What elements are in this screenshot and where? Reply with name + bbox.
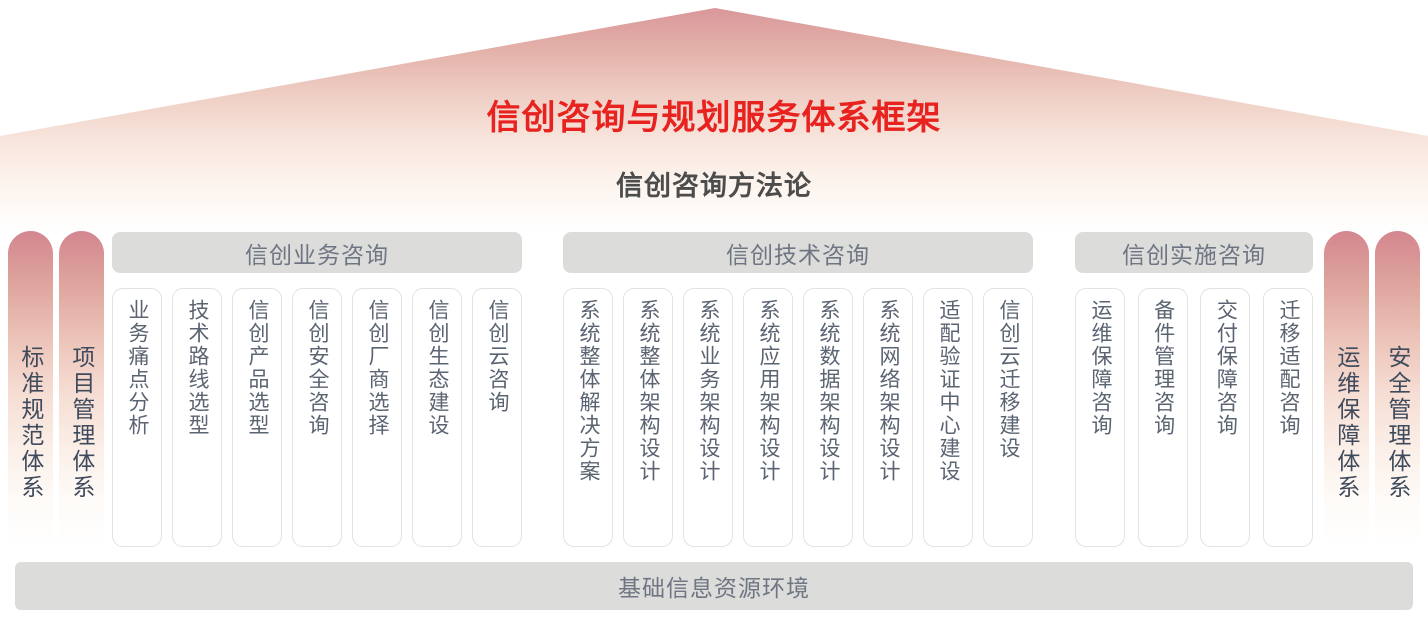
item-card[interactable]: 运维保障咨询 <box>1075 288 1125 547</box>
pillar-right-1-label: 运维保障体系 <box>1334 345 1359 501</box>
item-label: 系统整体架构设计 <box>637 299 659 483</box>
item-card[interactable]: 系统整体解决方案 <box>563 288 613 547</box>
item-card[interactable]: 系统整体架构设计 <box>623 288 673 547</box>
item-label: 运维保障咨询 <box>1089 299 1111 437</box>
item-card[interactable]: 业务痛点分析 <box>112 288 162 547</box>
group-body-implementation: 运维保障咨询 备件管理咨询 交付保障咨询 迁移适配咨询 <box>1075 288 1313 547</box>
item-label: 信创生态建设 <box>426 299 448 437</box>
item-label: 适配验证中心建设 <box>937 299 959 483</box>
item-label: 迁移适配咨询 <box>1277 299 1299 437</box>
pillar-left-1-label: 标准规范体系 <box>18 345 43 501</box>
group-header-technology[interactable]: 信创技术咨询 <box>563 232 1033 273</box>
item-card[interactable]: 信创厂商选择 <box>352 288 402 547</box>
item-card[interactable]: 信创生态建设 <box>412 288 462 547</box>
item-label: 信创云迁移建设 <box>997 299 1019 460</box>
group-body-business: 业务痛点分析 技术路线选型 信创产品选型 信创安全咨询 信创厂商选择 信创生态建… <box>112 288 522 547</box>
item-card[interactable]: 技术路线选型 <box>172 288 222 547</box>
item-card[interactable]: 迁移适配咨询 <box>1263 288 1313 547</box>
item-label: 系统网络架构设计 <box>877 299 899 483</box>
item-label: 信创安全咨询 <box>306 299 328 437</box>
foundation-bar[interactable]: 基础信息资源环境 <box>15 562 1413 610</box>
item-label: 交付保障咨询 <box>1214 299 1236 437</box>
item-label: 信创云咨询 <box>486 299 508 414</box>
item-card[interactable]: 信创安全咨询 <box>292 288 342 547</box>
item-card[interactable]: 信创产品选型 <box>232 288 282 547</box>
item-card[interactable]: 信创云咨询 <box>472 288 522 547</box>
pillar-left-2-label: 项目管理体系 <box>69 345 94 501</box>
item-label: 信创厂商选择 <box>366 299 388 437</box>
item-label: 技术路线选型 <box>186 299 208 437</box>
item-card[interactable]: 系统业务架构设计 <box>683 288 733 547</box>
item-card[interactable]: 适配验证中心建设 <box>923 288 973 547</box>
item-label: 信创产品选型 <box>246 299 268 437</box>
item-card[interactable]: 交付保障咨询 <box>1200 288 1250 547</box>
pillar-right-2-label: 安全管理体系 <box>1385 345 1410 501</box>
item-label: 系统整体解决方案 <box>577 299 599 483</box>
page-title: 信创咨询与规划服务体系框架 <box>0 98 1428 139</box>
item-label: 备件管理咨询 <box>1152 299 1174 437</box>
diagram-canvas: 信创咨询与规划服务体系框架 信创咨询方法论 标准规范体系 项目管理体系 运维保障… <box>0 0 1428 627</box>
pillar-left-1[interactable]: 标准规范体系 <box>8 231 53 547</box>
group-body-technology: 系统整体解决方案 系统整体架构设计 系统业务架构设计 系统应用架构设计 系统数据… <box>563 288 1033 547</box>
item-card[interactable]: 系统网络架构设计 <box>863 288 913 547</box>
group-header-implementation[interactable]: 信创实施咨询 <box>1075 232 1313 273</box>
item-card[interactable]: 系统应用架构设计 <box>743 288 793 547</box>
item-label: 系统应用架构设计 <box>757 299 779 483</box>
item-label: 系统数据架构设计 <box>817 299 839 483</box>
item-label: 系统业务架构设计 <box>697 299 719 483</box>
item-card[interactable]: 系统数据架构设计 <box>803 288 853 547</box>
pillar-right-1[interactable]: 运维保障体系 <box>1324 231 1369 547</box>
group-header-business[interactable]: 信创业务咨询 <box>112 232 522 273</box>
item-card[interactable]: 备件管理咨询 <box>1138 288 1188 547</box>
pillar-right-2[interactable]: 安全管理体系 <box>1375 231 1420 547</box>
page-subtitle: 信创咨询方法论 <box>0 170 1428 202</box>
item-label: 业务痛点分析 <box>126 299 148 437</box>
item-card[interactable]: 信创云迁移建设 <box>983 288 1033 547</box>
pillar-left-2[interactable]: 项目管理体系 <box>59 231 104 547</box>
